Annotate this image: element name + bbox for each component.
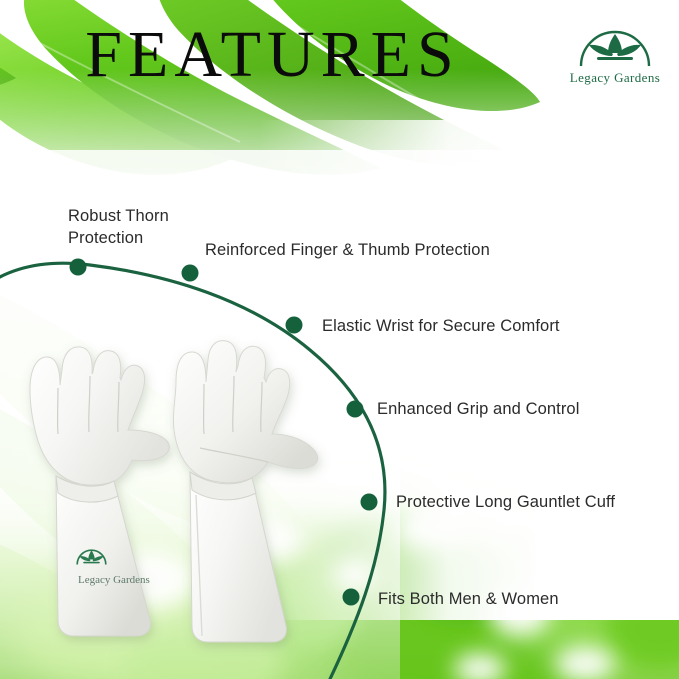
dot-cuff[interactable]: [361, 494, 378, 511]
dot-wrist[interactable]: [286, 317, 303, 334]
feature-label-thorn: Robust Thorn Protection: [68, 206, 169, 250]
feature-label-cuff: Protective Long Gauntlet Cuff: [396, 492, 615, 514]
feature-label-wrist: Elastic Wrist for Secure Comfort: [322, 316, 560, 338]
feature-label-finger: Reinforced Finger & Thumb Protection: [205, 240, 490, 262]
dot-finger[interactable]: [182, 265, 199, 282]
dot-grip[interactable]: [347, 401, 364, 418]
feature-label-fit: Fits Both Men & Women: [378, 589, 559, 611]
dot-fit[interactable]: [343, 589, 360, 606]
feature-arc: [0, 0, 679, 679]
features-infographic: FEATURES Legacy Gardens: [0, 0, 679, 679]
dot-thorn[interactable]: [70, 259, 87, 276]
feature-label-grip: Enhanced Grip and Control: [377, 399, 579, 421]
arc-dots: [70, 259, 378, 606]
